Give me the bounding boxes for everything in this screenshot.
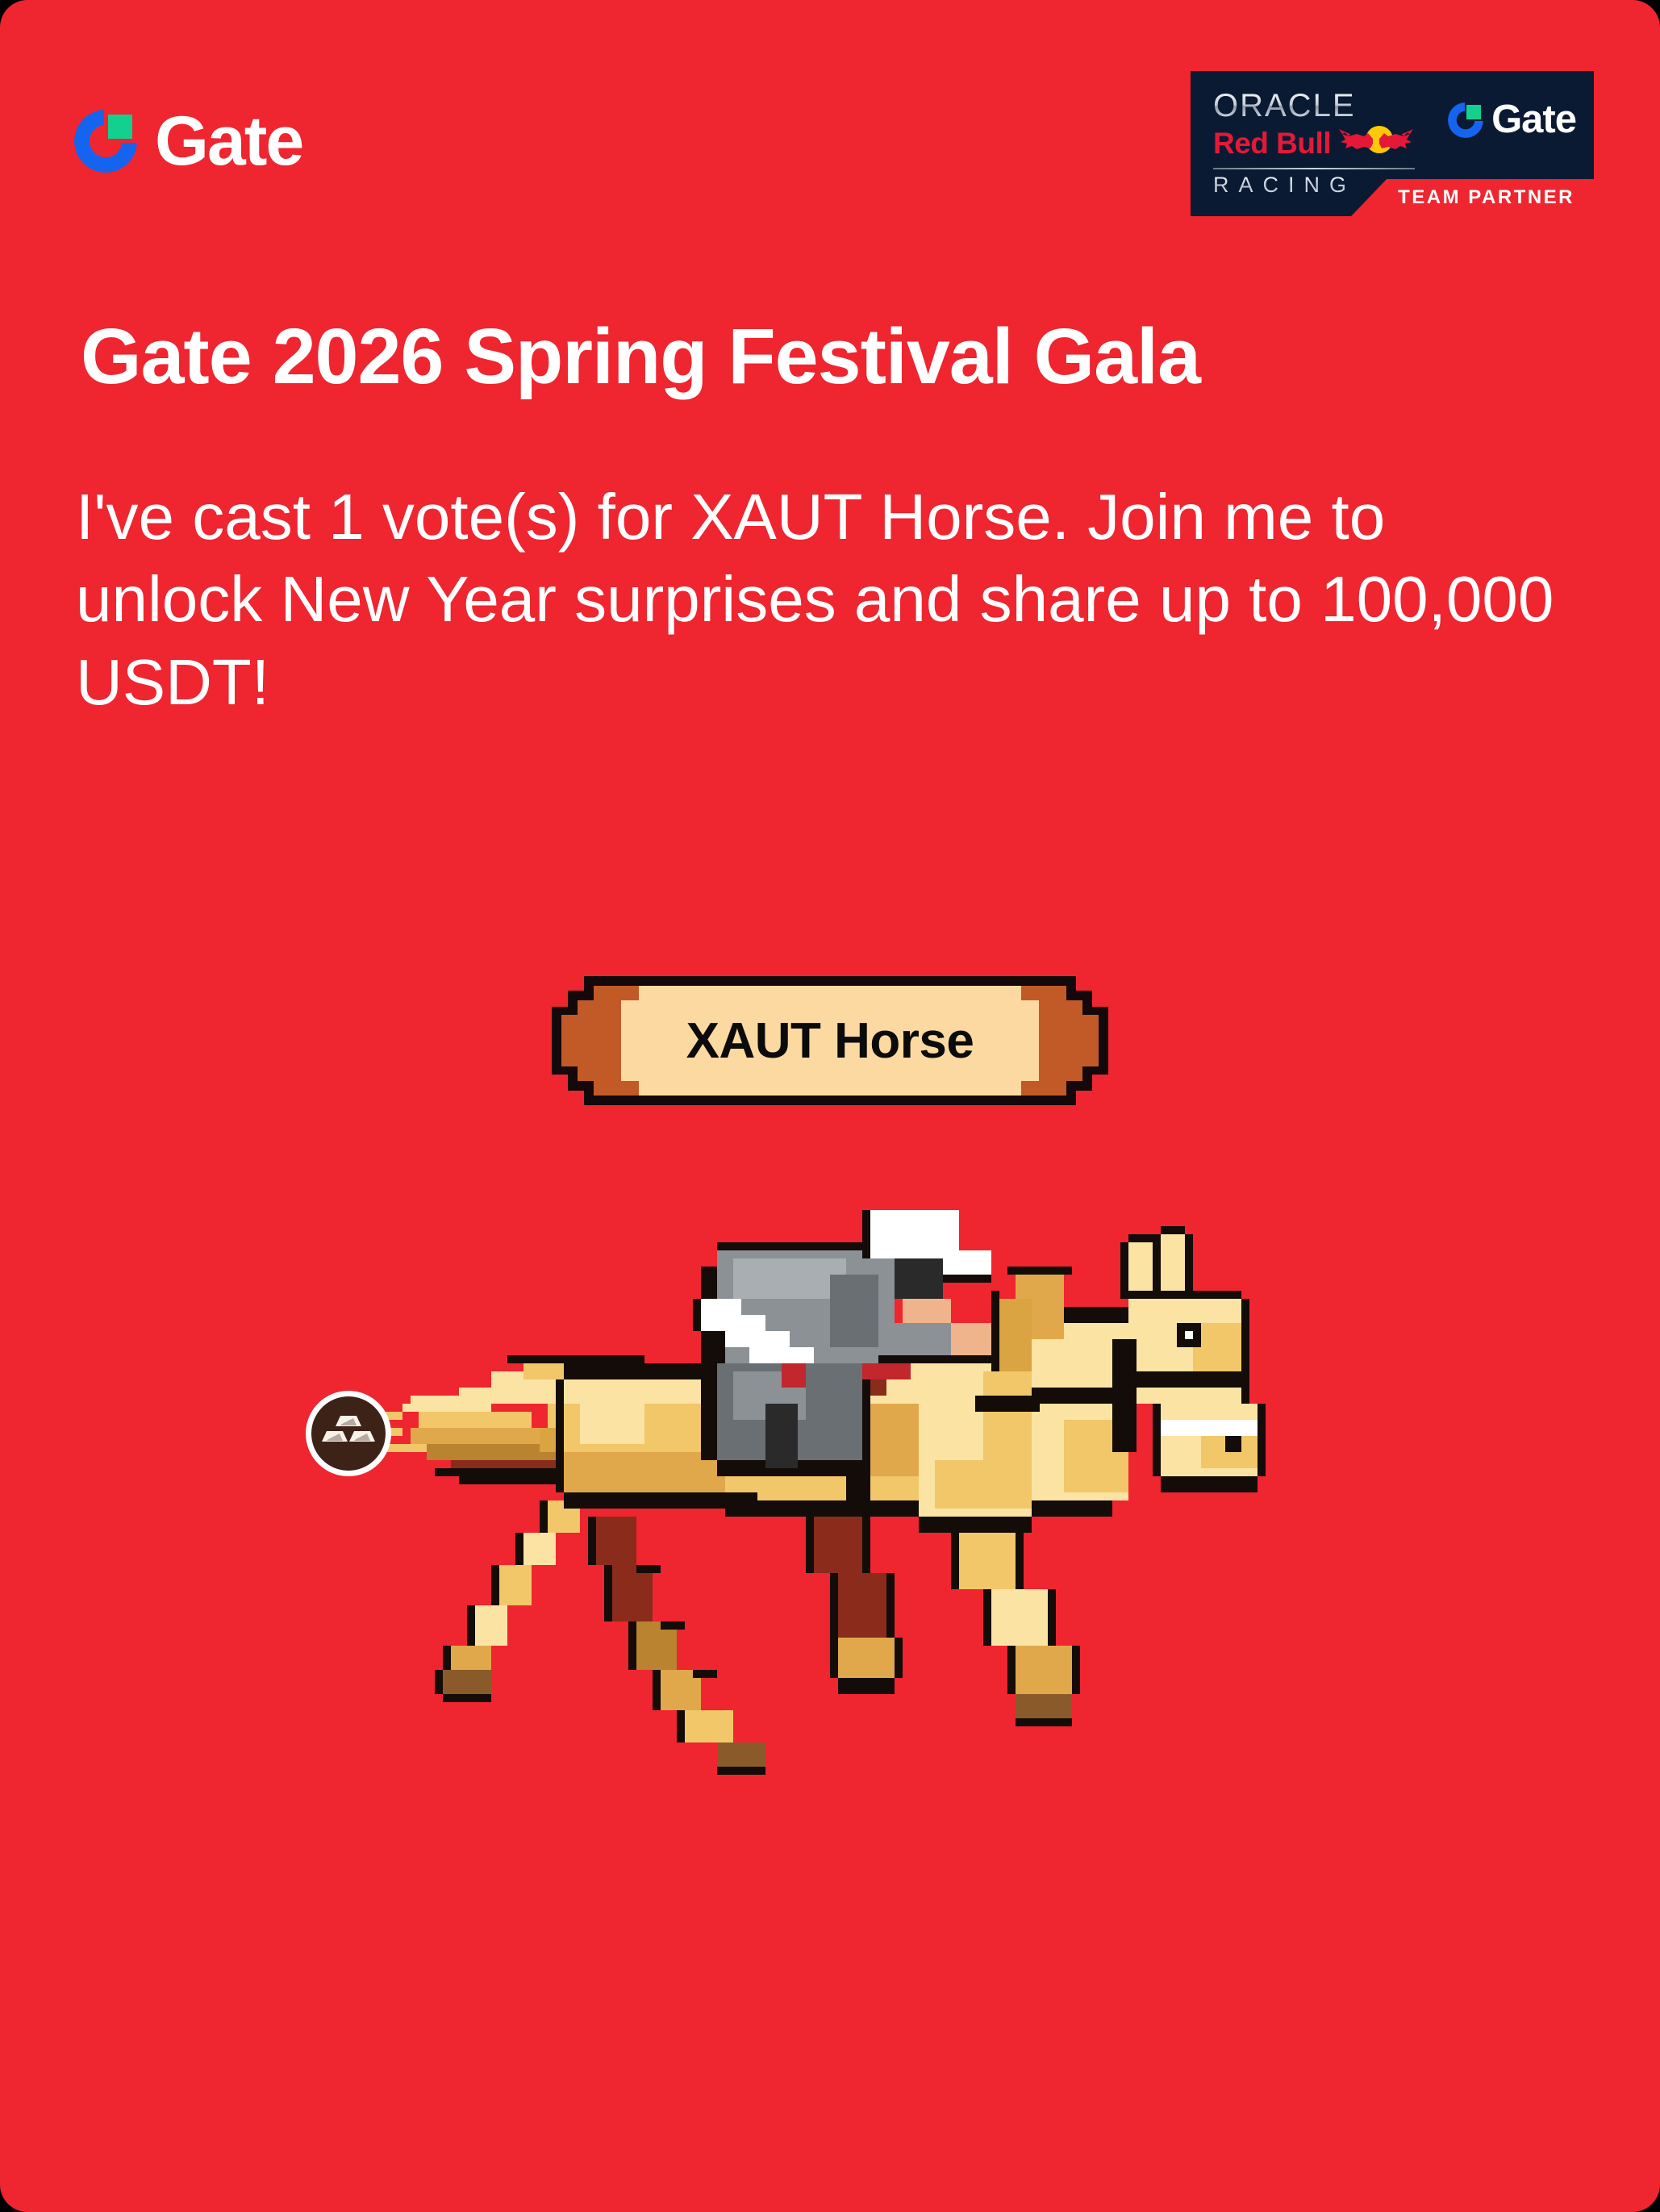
red-bull-wordmark: Red Bull	[1213, 128, 1331, 160]
gate-logo-square	[108, 115, 132, 139]
gate-wordmark: Gate	[155, 106, 302, 176]
page-title: Gate 2026 Spring Festival Gala	[81, 313, 1565, 401]
pixel-art-racehorse-with-jockey	[362, 1210, 1298, 1775]
oracle-wordmark: ORACLE	[1213, 89, 1415, 123]
badge-gate-wordmark: Gate	[1491, 100, 1576, 140]
xaut-gold-bars-icon	[304, 1389, 393, 1478]
horse-front-legs	[806, 1517, 1080, 1726]
badge-gate-logo: Gate	[1448, 100, 1576, 140]
red-bull-racing-lockup: ORACLE Red Bull	[1213, 89, 1415, 198]
share-card: Gate ORACLE Red Bull	[0, 0, 1660, 2212]
oracle-red-bull-racing-badge: ORACLE Red Bull	[1191, 71, 1594, 216]
red-bull-charging-bulls-icon	[1337, 124, 1415, 164]
team-partner-label: TEAM PARTNER	[1398, 186, 1574, 209]
share-message: I've cast 1 vote(s) for XAUT Horse. Join…	[76, 476, 1584, 724]
candidate-nameplate: XAUT Horse	[552, 976, 1108, 1105]
nameplate-label: XAUT Horse	[552, 976, 1108, 1105]
nameplate-container: XAUT Horse	[0, 976, 1660, 1105]
horse-hind-legs	[435, 1500, 765, 1775]
gate-logo-icon-small	[1448, 102, 1483, 138]
horse-illustration	[0, 1210, 1660, 1791]
gate-logo-square-small	[1466, 105, 1481, 119]
gate-logo-icon	[74, 110, 137, 173]
gate-logo[interactable]: Gate	[74, 106, 302, 176]
badge-circle	[311, 1396, 386, 1471]
team-partner-banner: TEAM PARTNER	[1351, 179, 1594, 216]
card-header: Gate ORACLE Red Bull	[0, 0, 1660, 242]
horse-chest	[919, 1347, 1032, 1533]
red-bull-row: Red Bull	[1213, 124, 1415, 164]
badge-divider	[1213, 168, 1415, 169]
